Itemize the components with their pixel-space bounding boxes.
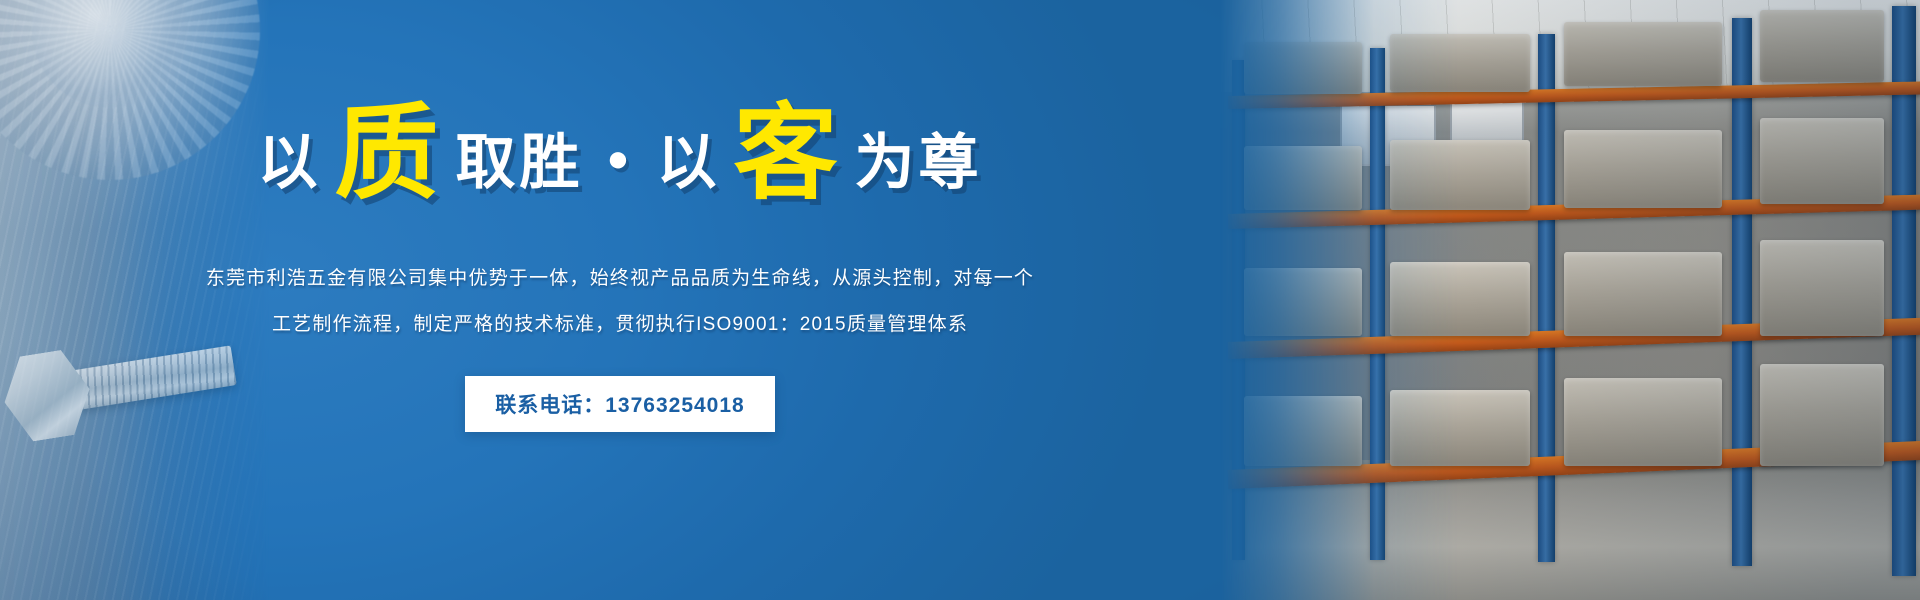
- headline-separator-dot-icon: ●: [591, 140, 650, 178]
- stored-goods: [1244, 42, 1362, 94]
- headline-segment-1: 以: [251, 133, 329, 193]
- stored-goods: [1564, 130, 1722, 208]
- stored-goods: [1564, 22, 1722, 86]
- banner-content: 以 质 取胜 ● 以 客 为尊 东莞市利浩五金有限公司集中优势于一体，始终视产品…: [0, 0, 1240, 600]
- headline-segment-5: 以: [649, 133, 727, 193]
- headline-highlight-zhi: 质: [329, 102, 449, 206]
- subtitle-line-1: 东莞市利浩五金有限公司集中优势于一体，始终视产品品质为生命线，从源头控制，对每一…: [206, 256, 1034, 302]
- contact-phone-text: 联系电话：13763254018: [495, 394, 744, 417]
- stored-goods: [1390, 262, 1530, 336]
- headline-highlight-ke: 客: [727, 102, 847, 206]
- stored-goods: [1244, 396, 1362, 466]
- stored-goods: [1760, 118, 1884, 204]
- rack-post: [1370, 48, 1385, 560]
- stored-goods: [1244, 146, 1362, 210]
- rack-post: [1538, 34, 1555, 562]
- stored-goods: [1390, 34, 1530, 92]
- warehouse-photo: [1220, 0, 1920, 600]
- stored-goods: [1390, 390, 1530, 466]
- stored-goods: [1760, 240, 1884, 336]
- headline-segment-7: 为尊: [847, 133, 989, 193]
- contact-phone-box[interactable]: 联系电话：13763254018: [465, 376, 774, 432]
- stored-goods: [1564, 378, 1722, 466]
- rack-post: [1732, 18, 1752, 566]
- stored-goods: [1760, 10, 1884, 82]
- stored-goods: [1564, 252, 1722, 336]
- stored-goods: [1390, 140, 1530, 210]
- banner-headline: 以 质 取胜 ● 以 客 为尊: [251, 96, 990, 200]
- banner-subtitle: 东莞市利浩五金有限公司集中优势于一体，始终视产品品质为生命线，从源头控制，对每一…: [206, 256, 1034, 348]
- stored-goods: [1244, 268, 1362, 336]
- stored-goods: [1760, 364, 1884, 466]
- hero-banner: 以 质 取胜 ● 以 客 为尊 东莞市利浩五金有限公司集中优势于一体，始终视产品…: [0, 0, 1920, 600]
- headline-segment-3: 取胜: [449, 133, 591, 193]
- subtitle-line-2: 工艺制作流程，制定严格的技术标准，贯彻执行ISO9001：2015质量管理体系: [206, 302, 1034, 348]
